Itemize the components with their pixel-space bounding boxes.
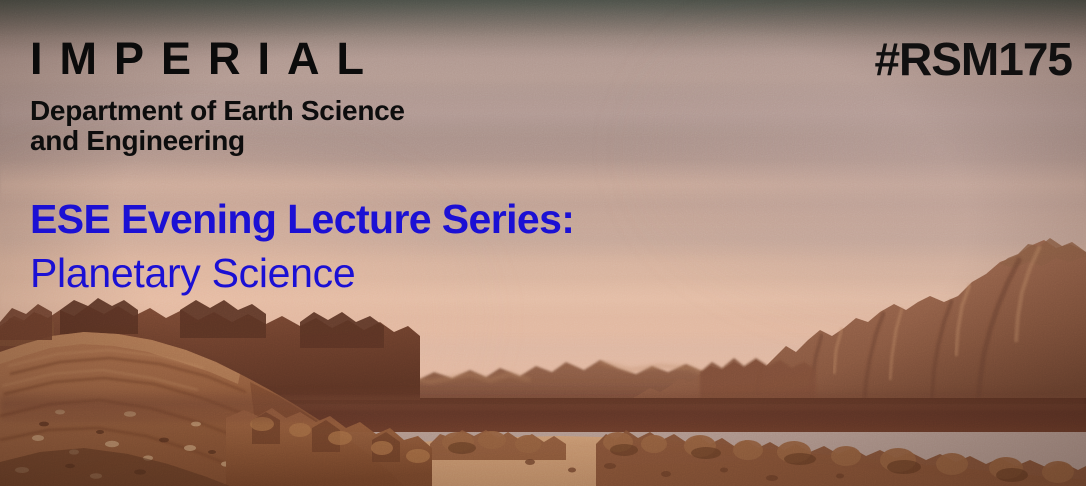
department-line-1: Department of Earth Science	[30, 96, 405, 126]
event-title-line-2: Planetary Science	[30, 247, 574, 299]
text-overlay: IMPERIAL Department of Earth Science and…	[0, 0, 1086, 486]
lecture-series-banner: IMPERIAL Department of Earth Science and…	[0, 0, 1086, 486]
event-hashtag: #RSM175	[874, 34, 1072, 84]
event-title-line-1: ESE Evening Lecture Series:	[30, 195, 574, 243]
event-title-block: ESE Evening Lecture Series: Planetary Sc…	[30, 195, 574, 299]
imperial-wordmark: IMPERIAL	[30, 34, 405, 84]
department-name: Department of Earth Science and Engineer…	[30, 96, 405, 156]
imperial-logo-block: IMPERIAL Department of Earth Science and…	[30, 34, 405, 156]
department-line-2: and Engineering	[30, 126, 405, 156]
